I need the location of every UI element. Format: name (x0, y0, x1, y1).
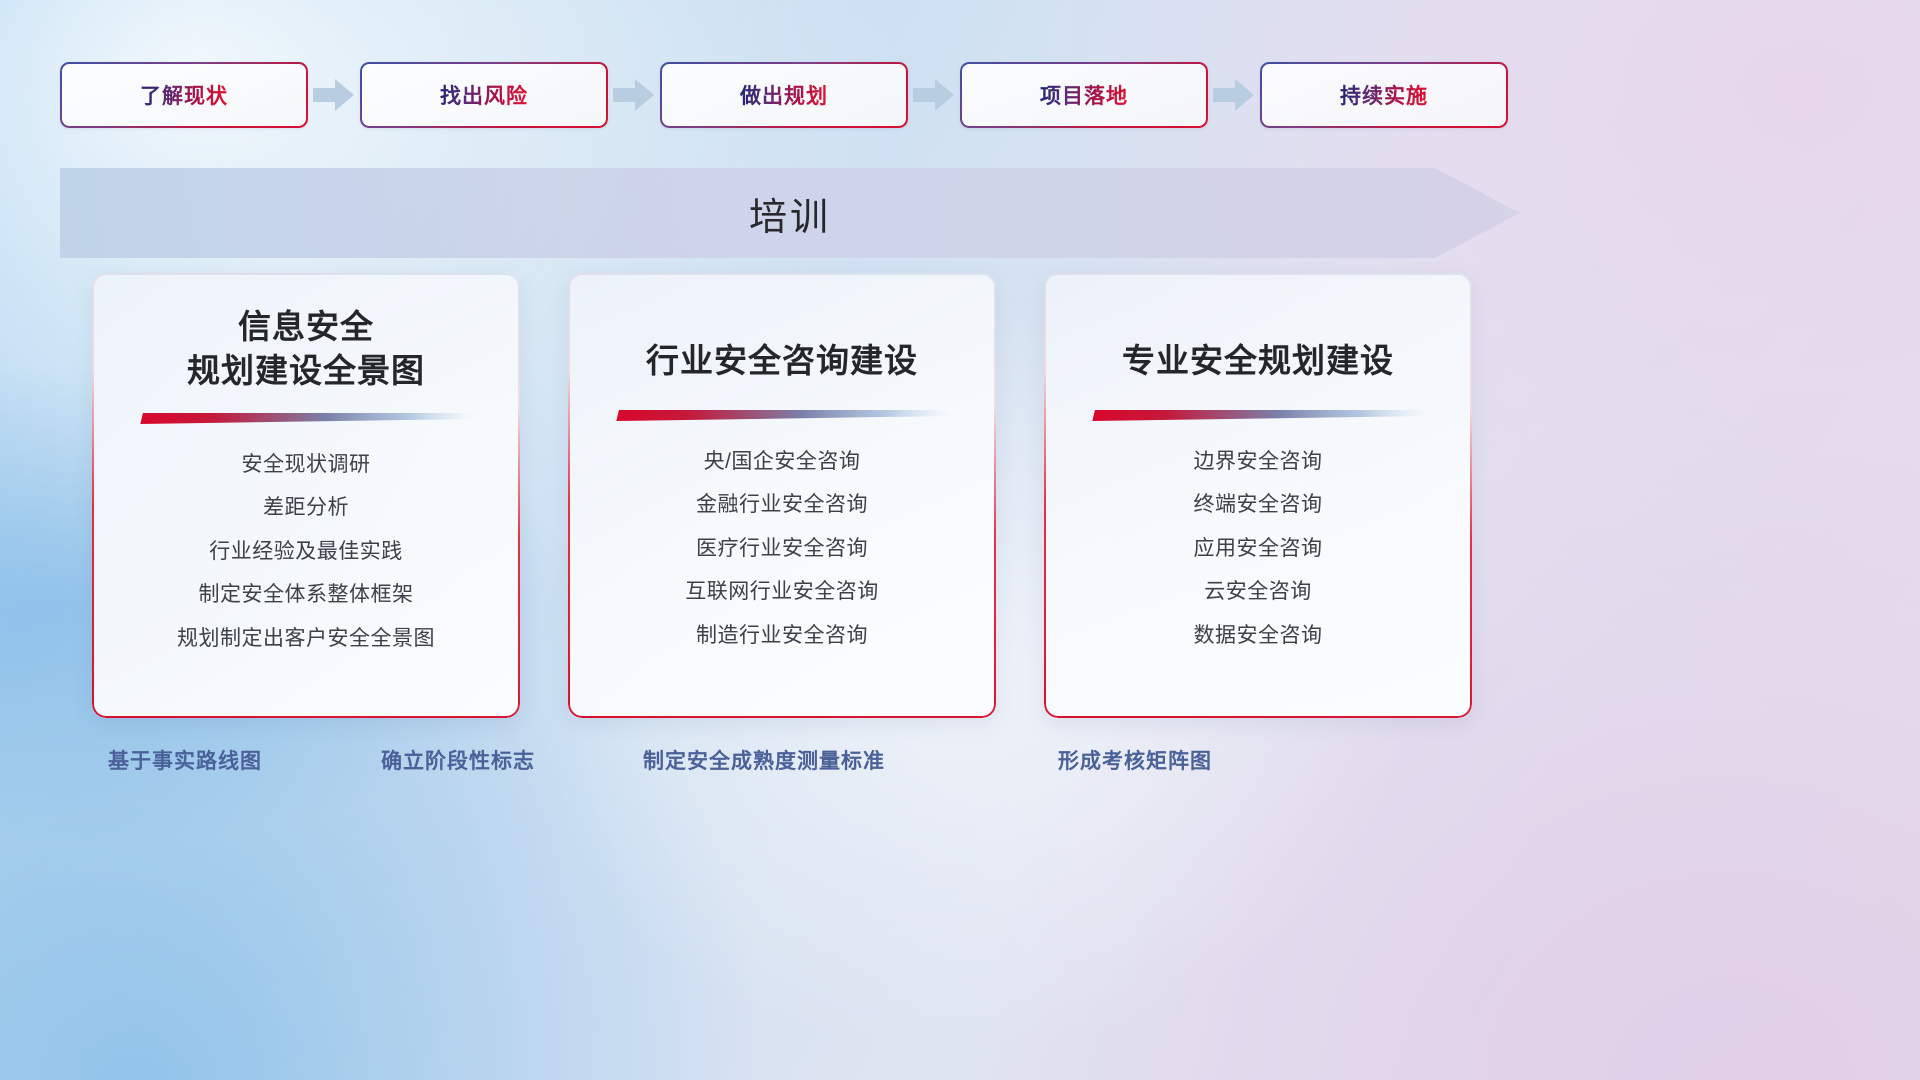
card-title-line-1: 专业安全规划建设 (1070, 339, 1446, 383)
footer-label-maturity: 制定安全成熟度测量标准 (643, 745, 885, 775)
card-item-list: 安全现状调研 差距分析 行业经验及最佳实践 制定安全体系整体框架 规划制定出客户… (118, 449, 494, 655)
list-item: 制定安全体系整体框架 (199, 579, 414, 611)
process-step-1[interactable]: 了解现状 (60, 62, 308, 128)
card-industry-security-consulting[interactable]: 行业安全咨询建设 (568, 273, 996, 718)
footer-label-row: 基于事实路线图 确立阶段性标志 制定安全成熟度测量标准 形成考核矩阵图 (0, 745, 1560, 791)
card-item-list: 央/国企安全咨询 金融行业安全咨询 医疗行业安全咨询 互联网行业安全咨询 制造行… (594, 446, 970, 652)
slide-stage: 了解现状 找出风险 做出规划 项目落地 持续实施 (0, 0, 1920, 1080)
card-professional-security-planning[interactable]: 专业安全规划建设 (1044, 273, 1472, 718)
card-title-line-2: 规划建设全景图 (118, 349, 494, 393)
process-step-5[interactable]: 持续实施 (1260, 62, 1508, 128)
list-item: 医疗行业安全咨询 (696, 533, 868, 565)
card-item-list: 边界安全咨询 终端安全咨询 应用安全咨询 云安全咨询 数据安全咨询 (1070, 446, 1446, 652)
card-title: 信息安全 规划建设全景图 (118, 305, 494, 393)
list-item: 安全现状调研 (242, 449, 371, 481)
list-item: 数据安全咨询 (1194, 620, 1323, 652)
card-title-line-1: 行业安全咨询建设 (594, 339, 970, 383)
tapered-divider-icon (1088, 410, 1428, 422)
footer-label-roadmap: 基于事实路线图 (108, 745, 262, 775)
process-step-label: 找出风险 (440, 80, 528, 110)
training-banner: 培训 (60, 168, 1520, 258)
process-step-label: 做出规划 (740, 80, 828, 110)
list-item: 互联网行业安全咨询 (685, 576, 879, 608)
list-item: 边界安全咨询 (1194, 446, 1323, 478)
card-information-security[interactable]: 信息安全 规划建设全景图 (92, 273, 520, 718)
list-item: 央/国企安全咨询 (704, 446, 861, 478)
process-step-label: 了解现状 (140, 80, 228, 110)
tapered-divider-icon (612, 410, 952, 422)
process-step-4[interactable]: 项目落地 (960, 62, 1208, 128)
list-item: 规划制定出客户安全全景图 (177, 623, 435, 655)
list-item: 云安全咨询 (1204, 576, 1312, 608)
card-title: 行业安全咨询建设 (594, 339, 970, 383)
right-arrow-icon (908, 62, 960, 128)
tapered-divider-icon (136, 413, 476, 425)
process-step-bar: 了解现状 找出风险 做出规划 项目落地 持续实施 (60, 62, 1510, 128)
list-item: 制造行业安全咨询 (696, 620, 868, 652)
footer-label-milestone: 确立阶段性标志 (381, 745, 535, 775)
list-item: 差距分析 (263, 492, 349, 524)
list-item: 行业经验及最佳实践 (209, 536, 403, 568)
right-arrow-icon (308, 62, 360, 128)
card-title-line-1: 信息安全 (118, 305, 494, 349)
footer-label-matrix: 形成考核矩阵图 (1058, 745, 1212, 775)
list-item: 应用安全咨询 (1194, 533, 1323, 565)
card-title: 专业安全规划建设 (1070, 339, 1446, 383)
list-item: 金融行业安全咨询 (696, 489, 868, 521)
list-item: 终端安全咨询 (1194, 489, 1323, 521)
process-step-3[interactable]: 做出规划 (660, 62, 908, 128)
process-step-label: 持续实施 (1340, 80, 1428, 110)
card-row: 信息安全 规划建设全景图 (92, 273, 1472, 718)
banner-title: 培训 (60, 168, 1520, 258)
right-arrow-icon (1208, 62, 1260, 128)
process-step-label: 项目落地 (1040, 80, 1128, 110)
right-arrow-icon (608, 62, 660, 128)
process-step-2[interactable]: 找出风险 (360, 62, 608, 128)
